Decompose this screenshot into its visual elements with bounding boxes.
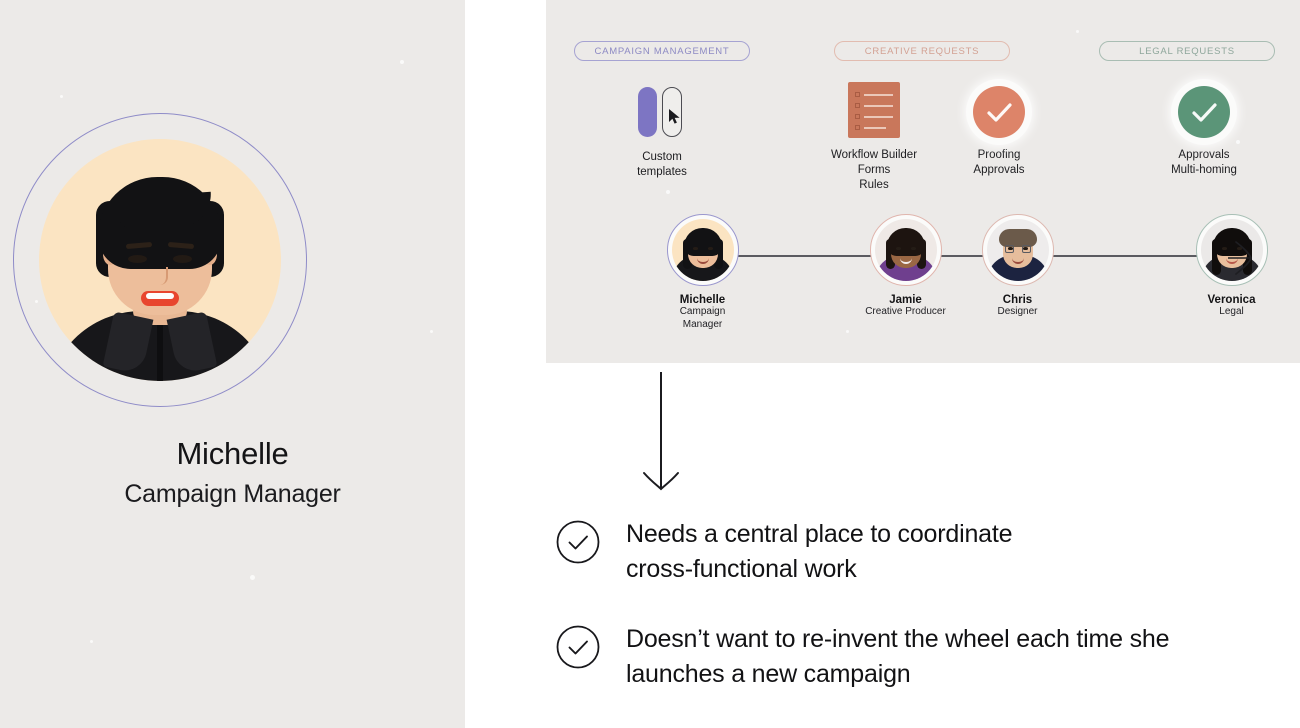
arrow-down-icon xyxy=(640,372,684,498)
feature-caption: Custom templates xyxy=(602,150,722,180)
persona-role: Legal xyxy=(1154,306,1300,319)
checklist-document-icon xyxy=(848,82,900,138)
check-circle-outline-icon xyxy=(556,625,600,669)
list-item: Doesn’t want to re-invent the wheel each… xyxy=(556,622,1256,692)
list-item: Needs a central place to coordinate cros… xyxy=(556,517,1256,587)
feature-proofing-approvals: Proofing Approvals xyxy=(914,84,1084,178)
glasses-icon xyxy=(1005,245,1031,253)
avatar xyxy=(13,113,307,407)
persona-chris[interactable]: Chris Designer xyxy=(940,214,1095,319)
avatar xyxy=(987,219,1049,281)
templates-icon xyxy=(634,84,690,140)
feature-caption: Proofing Approvals xyxy=(914,148,1084,178)
feature-custom-templates: Custom templates xyxy=(602,84,722,180)
check-circle-outline-icon xyxy=(556,520,600,564)
check-circle-icon xyxy=(1178,86,1230,138)
persona-michelle[interactable]: Michelle Campaign Manager xyxy=(625,214,780,331)
check-circle-icon xyxy=(973,86,1025,138)
speck xyxy=(250,575,255,580)
list-item-text: Needs a central place to coordinate cros… xyxy=(626,517,1256,587)
speck xyxy=(846,330,849,333)
cursor-icon xyxy=(668,108,682,125)
page-title: Michelle xyxy=(0,436,465,472)
speck xyxy=(430,330,433,333)
category-pill-legal-requests[interactable]: LEGAL REQUESTS xyxy=(1099,41,1275,61)
avatar-photo xyxy=(39,139,281,381)
persona-role: Campaign Manager xyxy=(625,306,780,331)
avatar xyxy=(875,219,937,281)
speck xyxy=(90,640,93,643)
speck xyxy=(60,95,63,98)
persona-panel: Michelle Campaign Manager xyxy=(0,0,465,728)
workflow-diagram-card: CAMPAIGN MANAGEMENT CREATIVE REQUESTS LE… xyxy=(546,0,1300,363)
speck xyxy=(400,60,404,64)
avatar xyxy=(672,219,734,281)
persona-veronica[interactable]: Veronica Legal xyxy=(1154,214,1300,319)
persona-name: Veronica xyxy=(1154,294,1300,306)
category-pill-campaign-management[interactable]: CAMPAIGN MANAGEMENT xyxy=(574,41,750,61)
speck xyxy=(1076,30,1079,33)
list-item-text: Doesn’t want to re-invent the wheel each… xyxy=(626,622,1256,692)
arrow-right-icon xyxy=(1228,238,1262,278)
persona-name: Chris xyxy=(940,294,1095,306)
feature-approvals-multihoming: Approvals Multi-homing xyxy=(1116,84,1292,178)
speck xyxy=(666,190,670,194)
persona-role: Campaign Manager xyxy=(0,480,465,509)
feature-caption: Approvals Multi-homing xyxy=(1116,148,1292,178)
category-pill-creative-requests[interactable]: CREATIVE REQUESTS xyxy=(834,41,1010,61)
persona-role: Designer xyxy=(940,306,1095,319)
persona-name: Michelle xyxy=(625,294,780,306)
